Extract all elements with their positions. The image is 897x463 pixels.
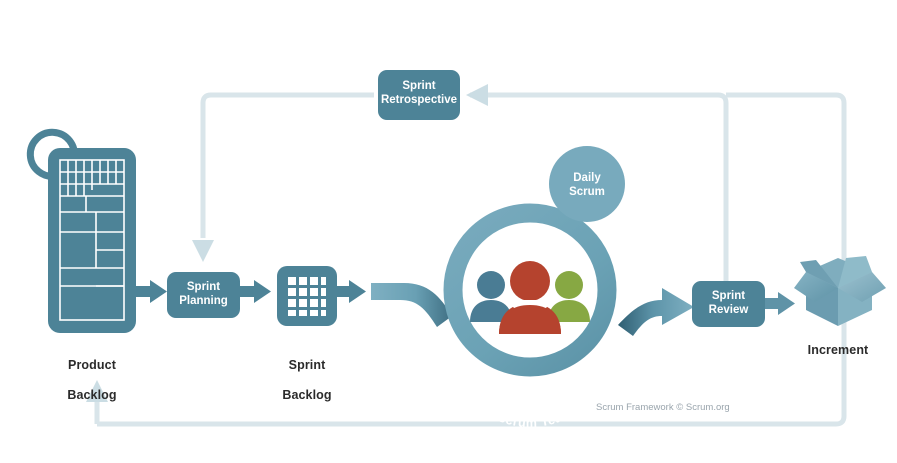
product-backlog-node[interactable] (30, 132, 167, 333)
sprint-backlog-label-2: Backlog (282, 388, 331, 402)
daily-scrum-label-1: Daily (573, 172, 601, 184)
increment-return-top (97, 95, 844, 424)
sprint-planning-label-1: Sprint (187, 281, 220, 293)
sprint-backlog-out-arrow (337, 280, 366, 303)
sprint-review-label-1: Sprint (712, 290, 745, 302)
credit-text: Scrum Framework © Scrum.org (596, 402, 730, 413)
increment-box-icon (794, 256, 886, 326)
increment-node[interactable] (794, 256, 886, 326)
daily-scrum-label-2: Scrum (569, 186, 605, 198)
sprint-outflow-ribbon (618, 288, 694, 336)
sprint-planning-label-2: Planning (179, 295, 228, 307)
daily-scrum-node[interactable]: Daily Scrum (549, 146, 625, 222)
sprint-backlog-node[interactable] (277, 266, 366, 326)
sprint-review-node[interactable]: Sprint Review (692, 281, 795, 327)
product-backlog-label: Product Backlog (42, 343, 142, 403)
daily-scrum-circle[interactable] (549, 146, 625, 222)
feedback-flow-lines (97, 95, 844, 424)
scrum-framework-diagram: Sprint Planning (0, 0, 897, 463)
sprint-backlog-label-1: Sprint (289, 358, 326, 372)
product-backlog-label-1: Product (68, 358, 116, 372)
sprint-retrospective-label-2: Retrospective (381, 94, 457, 106)
planning-to-backlog-arrow (240, 280, 271, 303)
scrum-team-people-icon (470, 261, 590, 334)
sprint-ring-node[interactable]: 1 Scrum Team (453, 213, 607, 430)
retro-to-planning-line (203, 95, 374, 238)
sprint-inflow-ribbon (371, 283, 452, 327)
sprint-retrospective-node[interactable]: Sprint Retrospective (378, 70, 460, 120)
arrow-into-retrospective (466, 84, 488, 106)
arrow-into-planning (192, 240, 214, 262)
sprint-review-label-2: Review (709, 304, 749, 316)
product-backlog-label-2: Backlog (67, 388, 116, 402)
increment-label: Increment (788, 343, 888, 358)
sprint-retrospective-label-1: Sprint (402, 80, 435, 92)
sprint-backlog-label: Sprint Backlog (257, 343, 357, 403)
sprint-planning-node[interactable]: Sprint Planning (167, 272, 271, 318)
backlog-to-planning-arrow (136, 280, 167, 303)
review-to-increment-arrow (765, 292, 795, 315)
